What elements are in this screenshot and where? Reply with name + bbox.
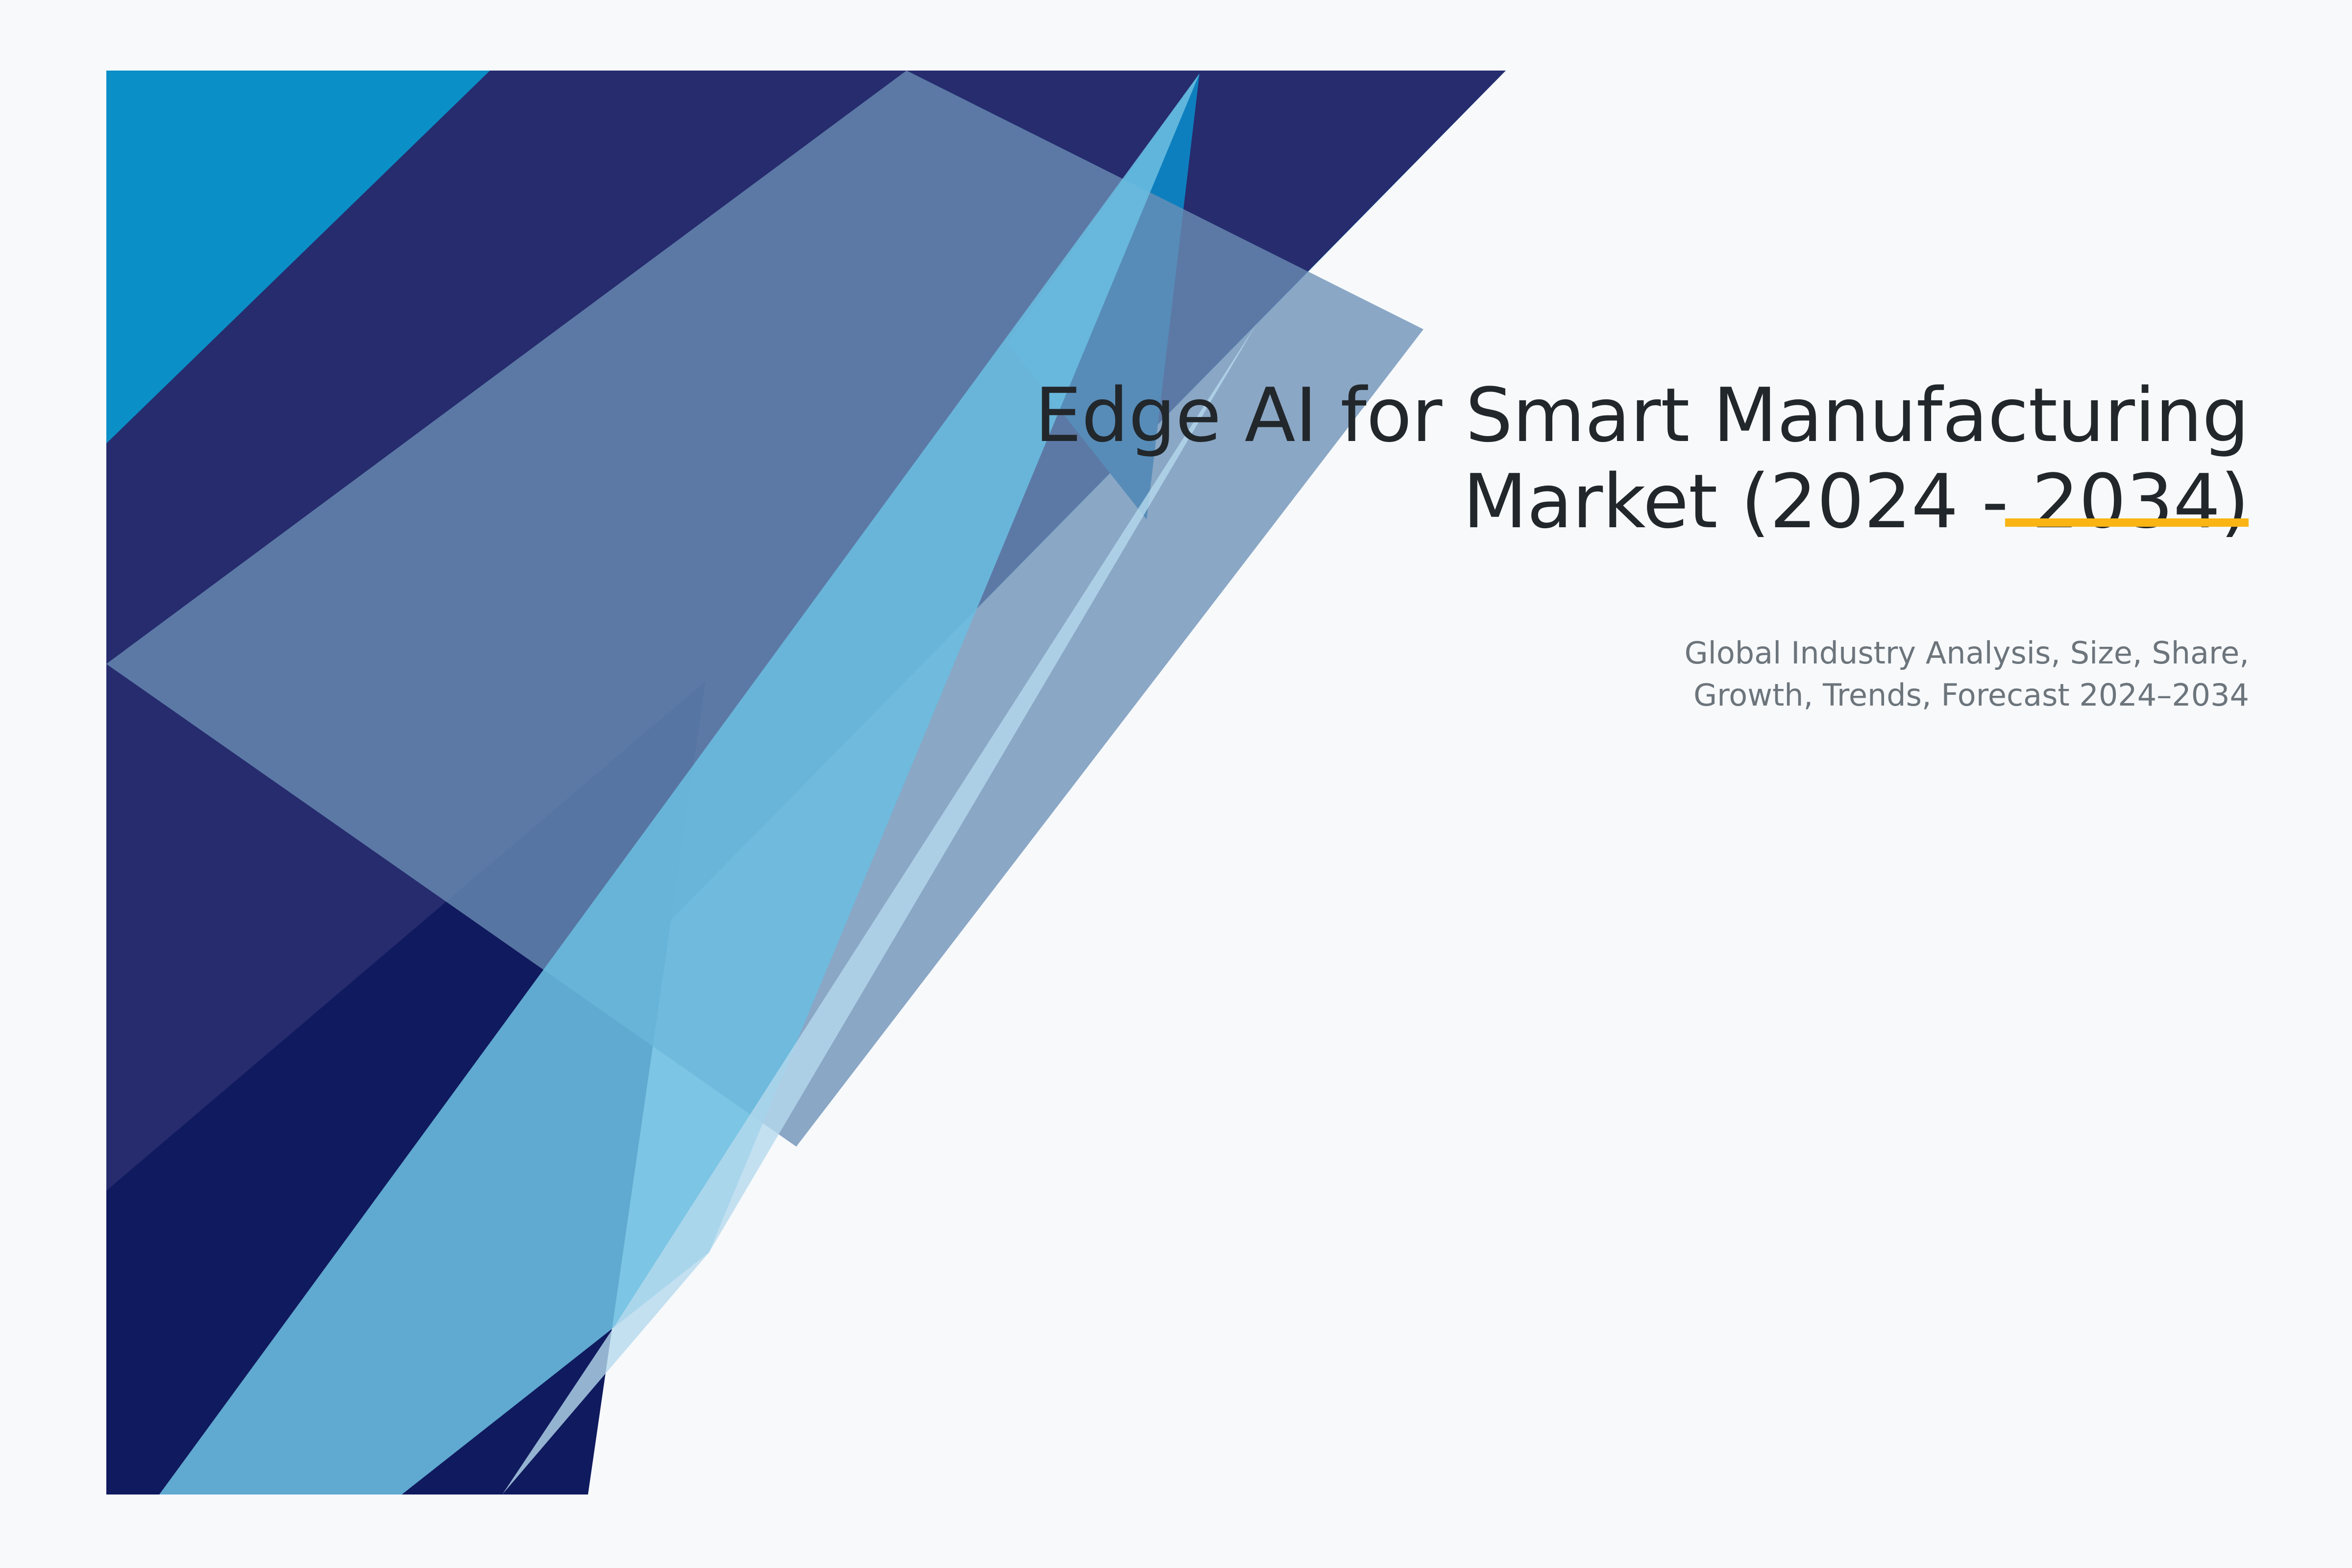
- abstract-geometric-banner: [0, 0, 2352, 1568]
- page-subtitle: Global Industry Analysis, Size, Share, G…: [1421, 632, 2249, 716]
- title-underline-accent: [2005, 518, 2249, 527]
- cover-page: Edge AI for Smart Manufacturing Market (…: [0, 0, 2352, 1568]
- artwork-shapes: [106, 71, 1506, 1494]
